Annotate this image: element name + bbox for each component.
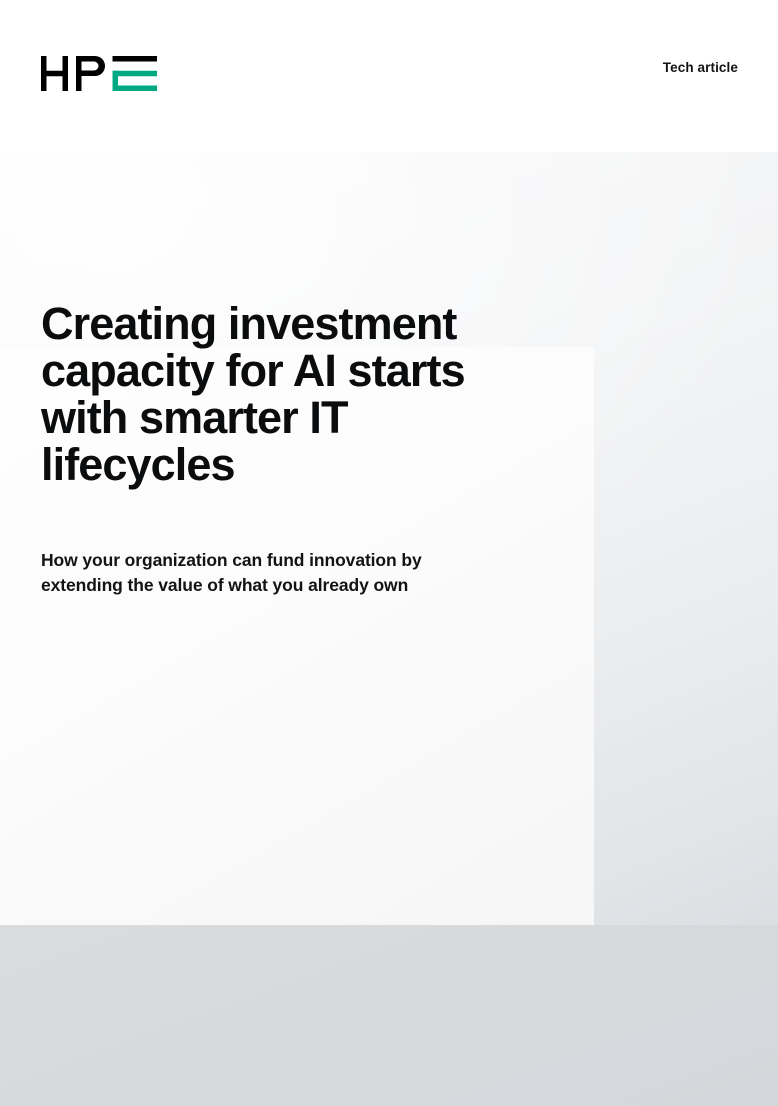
- header-inner: Tech article: [0, 0, 778, 152]
- header-kicker-tech-article: Tech article: [663, 59, 738, 77]
- page-title: Creating investment capacity for AI star…: [41, 300, 511, 488]
- document-page: Tech article Creating investment capacit…: [0, 0, 778, 1106]
- page-header: Tech article: [0, 0, 778, 152]
- page-subtitle: How your organization can fund innovatio…: [41, 488, 481, 598]
- page-background-lower-band: [0, 925, 778, 1106]
- hpe-logo[interactable]: [41, 56, 157, 91]
- cover-text-block: Creating investment capacity for AI star…: [41, 300, 561, 598]
